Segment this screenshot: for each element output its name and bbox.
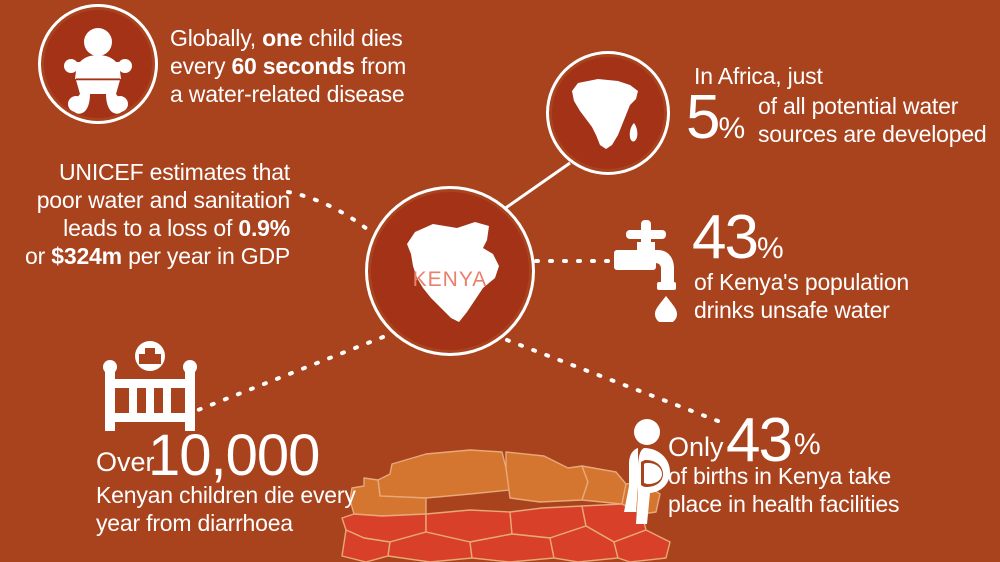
diarrhoea-body-text: Kenyan children die every year from diar…: [96, 481, 356, 537]
stat-line: year from diarrhoea: [96, 509, 356, 537]
africa-map-icon: [552, 57, 664, 169]
connector-kenya-to-births: [507, 340, 718, 421]
births-body-text: of births in Kenya take place in health …: [668, 462, 899, 518]
stat-line: of births in Kenya take: [668, 462, 899, 490]
stat-line: of Kenya's population: [694, 268, 909, 296]
diarrhoea-number: 10,000: [148, 428, 319, 484]
stat-line: drinks unsafe water: [694, 296, 909, 324]
infographic-canvas: Globally, one child dies every 60 second…: [0, 0, 1000, 562]
tap-icon: [612, 218, 690, 322]
stat-line: place in health facilities: [668, 490, 899, 518]
kenya-map-icon: KENYA: [371, 192, 529, 350]
unsafe-water-percentage-value: 43%: [692, 208, 783, 268]
stat-line: Globally, one child dies: [170, 24, 406, 52]
stat-line: leads to a loss of 0.9%: [8, 214, 290, 242]
stat-line: a water-related disease: [170, 80, 406, 108]
unsafe-water-number: 43: [692, 203, 757, 272]
unsafe-water-body-text: of Kenya's population drinks unsafe wate…: [694, 268, 909, 324]
africa-percentage-value: 5%: [686, 88, 744, 148]
africa-number: 5: [686, 83, 718, 152]
africa-percent-sign: %: [718, 112, 744, 145]
stat-line: every 60 seconds from: [170, 52, 406, 80]
stat-line: of all potential water: [758, 92, 987, 120]
stat-line: UNICEF estimates that: [8, 158, 290, 186]
unicef-gdp-loss-text: UNICEF estimates that poor water and san…: [8, 158, 290, 270]
global-child-deaths-text: Globally, one child dies every 60 second…: [170, 24, 406, 108]
births-percent-sign: %: [794, 428, 820, 462]
diarrhoea-lead-text: Over: [96, 447, 155, 477]
births-lead-text: Only: [668, 432, 724, 462]
stat-line: poor water and sanitation: [8, 186, 290, 214]
kenya-label: KENYA: [413, 268, 488, 291]
connector-kenya-to-crib: [198, 337, 383, 410]
stat-line: Kenyan children die every: [96, 481, 356, 509]
stat-line: or $324m per year in GDP: [8, 242, 290, 270]
unsafe-water-percent-sign: %: [757, 232, 783, 265]
africa-body-text: of all potential water sources are devel…: [758, 92, 987, 148]
stat-line: sources are developed: [758, 120, 987, 148]
connector-unicef-to-kenya: [288, 192, 371, 232]
baby-icon: [44, 10, 152, 118]
